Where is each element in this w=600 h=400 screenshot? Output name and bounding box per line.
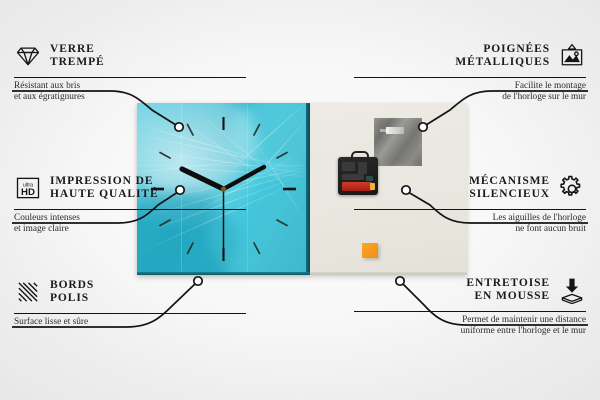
diamond-icon bbox=[14, 42, 42, 70]
gear-icon bbox=[558, 174, 586, 202]
title-rule bbox=[354, 77, 586, 78]
title-rule bbox=[354, 311, 586, 312]
title-rule bbox=[14, 209, 246, 210]
title-rule bbox=[354, 209, 586, 210]
feature-subtitle: Facilite le montagede l'horloge sur le m… bbox=[354, 81, 586, 104]
feature-poignees-metalliques[interactable]: POIGNÉESMÉTALLIQUES Facilite le montaged… bbox=[354, 36, 586, 104]
picture-hanger-icon bbox=[558, 42, 586, 70]
feature-impression-haute-qualite[interactable]: ultra HD IMPRESSION DEHAUTE QUALITÉ Coul… bbox=[14, 168, 246, 236]
foam-spacer-icon bbox=[558, 276, 586, 304]
feature-subtitle: Surface lisse et sûre bbox=[14, 317, 246, 328]
title-rule bbox=[14, 77, 246, 78]
feature-subtitle: Les aiguilles de l'horlogene font aucun … bbox=[354, 213, 586, 236]
feature-subtitle: Permet de maintenir une distanceuniforme… bbox=[354, 315, 586, 338]
feature-title: MÉCANISMESILENCIEUX bbox=[469, 175, 550, 202]
ultra-hd-badge-icon: ultra HD bbox=[14, 174, 42, 202]
feature-mecanisme-silencieux[interactable]: MÉCANISMESILENCIEUX Les aiguilles de l'h… bbox=[354, 168, 586, 236]
feature-bords-polis[interactable]: BORDSPOLIS Surface lisse et sûre bbox=[14, 272, 246, 328]
svg-text:HD: HD bbox=[21, 187, 35, 198]
feature-verre-trempe[interactable]: VERRETREMPÉ Résistant aux briset aux égr… bbox=[14, 36, 246, 104]
metal-hanger-plate bbox=[374, 118, 422, 166]
feature-title: BORDSPOLIS bbox=[50, 279, 94, 306]
feature-title: IMPRESSION DEHAUTE QUALITÉ bbox=[50, 175, 159, 202]
feature-subtitle: Résistant aux briset aux égratignures bbox=[14, 81, 246, 104]
polished-edge-icon bbox=[14, 278, 42, 306]
title-rule bbox=[14, 313, 246, 314]
foam-spacer bbox=[362, 243, 378, 258]
feature-title: VERRETREMPÉ bbox=[50, 43, 105, 70]
feature-entretoise-en-mousse[interactable]: ENTRETOISEEN MOUSSE Permet de maintenir … bbox=[354, 270, 586, 338]
feature-subtitle: Couleurs intenseset image claire bbox=[14, 213, 246, 236]
feature-title: POIGNÉESMÉTALLIQUES bbox=[455, 43, 550, 70]
infographic-canvas: VERRETREMPÉ Résistant aux briset aux égr… bbox=[0, 0, 600, 400]
feature-title: ENTRETOISEEN MOUSSE bbox=[466, 277, 550, 304]
